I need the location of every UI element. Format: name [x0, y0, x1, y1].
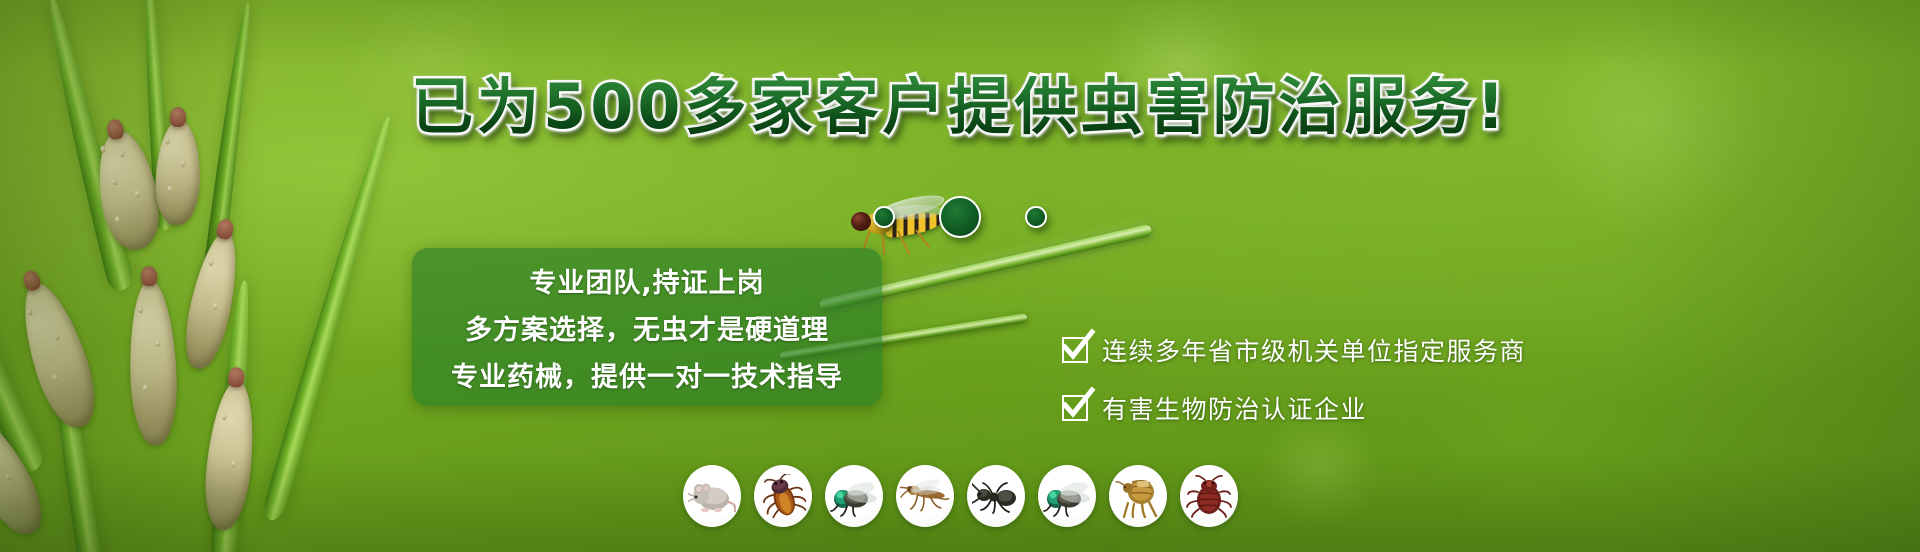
decorative-dot-group — [0, 196, 1920, 238]
dot-small-right — [1025, 206, 1047, 228]
bedbug-icon[interactable] — [1180, 465, 1238, 527]
dot-small-left — [873, 206, 895, 228]
page-title: 已为500多家客户提供虫害防治服务! — [0, 76, 1920, 138]
checklist-item: 连续多年省市级机关单位指定服务商 — [1062, 332, 1526, 368]
blowfly-icon[interactable] — [825, 465, 883, 527]
credentials-checklist: 连续多年省市级机关单位指定服务商 有害生物防治认证企业 — [1062, 332, 1526, 426]
pest-control-banner: 已为500多家客户提供虫害防治服务! 已为500多家客户提供虫害防治服务! 专业… — [0, 0, 1920, 552]
panel-line-3: 专业药械，提供一对一技术指导 — [451, 355, 843, 394]
checkbox-checked-icon — [1062, 337, 1088, 363]
checklist-item-label: 连续多年省市级机关单位指定服务商 — [1102, 332, 1526, 368]
flea-icon[interactable] — [1109, 465, 1167, 527]
checklist-item: 有害生物防治认证企业 — [1062, 390, 1526, 426]
mosquito-icon[interactable] — [896, 465, 954, 527]
rodent-mouse-icon[interactable] — [683, 465, 741, 527]
panel-line-2: 多方案选择，无虫才是硬道理 — [465, 308, 829, 347]
selling-points-panel: 专业团队,持证上岗 多方案选择，无虫才是硬道理 专业药械，提供一对一技术指导 — [412, 248, 882, 406]
housefly-icon[interactable] — [1038, 465, 1096, 527]
dot-large-center — [939, 196, 981, 238]
pest-icon-row — [0, 465, 1920, 527]
checklist-item-label: 有害生物防治认证企业 — [1102, 390, 1367, 426]
cockroach-icon[interactable] — [754, 465, 812, 527]
checkbox-checked-icon — [1062, 395, 1088, 421]
panel-line-1: 专业团队,持证上岗 — [529, 261, 764, 300]
ant-icon[interactable] — [967, 465, 1025, 527]
